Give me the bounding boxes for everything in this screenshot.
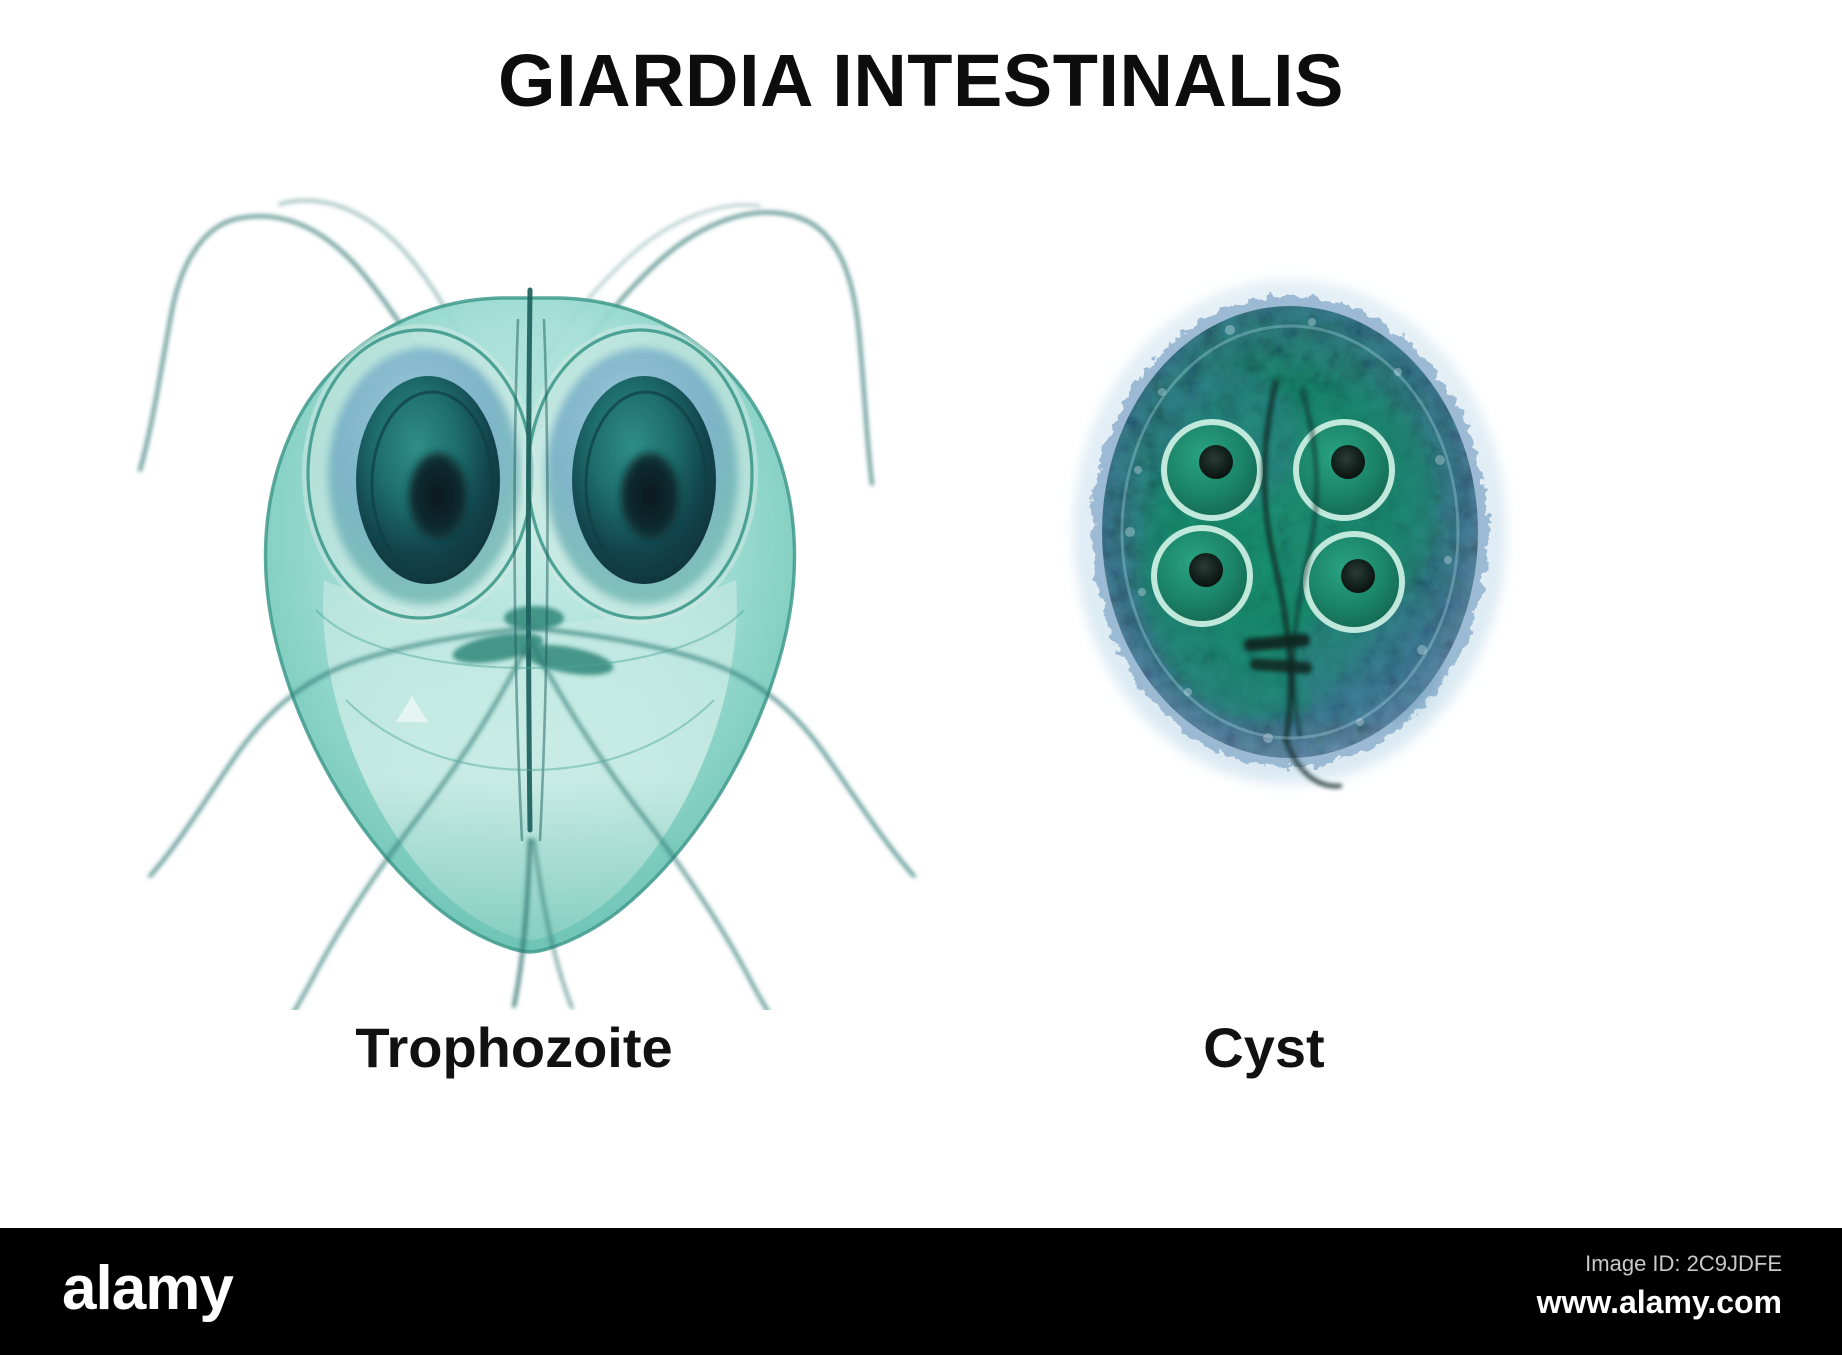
cyst-nucleus-lower-right [1306, 534, 1402, 630]
cyst-nucleus-upper-left [1164, 422, 1260, 518]
page-title: GIARDIA INTESTINALIS [0, 44, 1842, 118]
illustration-page: GIARDIA INTESTINALIS [0, 0, 1842, 1355]
trophozoite-organism-icon [110, 140, 950, 1010]
trophozoite-nucleus-left [302, 324, 538, 624]
trophozoite-nucleus-right [522, 324, 758, 624]
watermark-bar: alamy Image ID: 2C9JDFE www.alamy.com [0, 1228, 1842, 1355]
specimen-cyst: Cyst [930, 140, 1650, 1180]
alamy-url-label: www.alamy.com [1537, 1282, 1782, 1322]
image-id-label: Image ID: 2C9JDFE [1537, 1250, 1782, 1278]
cyst-nucleus-lower-left [1154, 528, 1250, 624]
caption-cyst: Cyst [904, 1020, 1624, 1076]
figure-area: Trophozoite [0, 140, 1842, 1220]
watermark-meta: Image ID: 2C9JDFE www.alamy.com [1537, 1250, 1782, 1322]
alamy-logo: alamy [62, 1258, 233, 1320]
caption-trophozoite: Trophozoite [94, 1020, 934, 1076]
cyst-organism-icon [930, 140, 1650, 1010]
cyst-nucleus-upper-right [1296, 422, 1392, 518]
specimen-trophozoite: Trophozoite [110, 140, 950, 1180]
